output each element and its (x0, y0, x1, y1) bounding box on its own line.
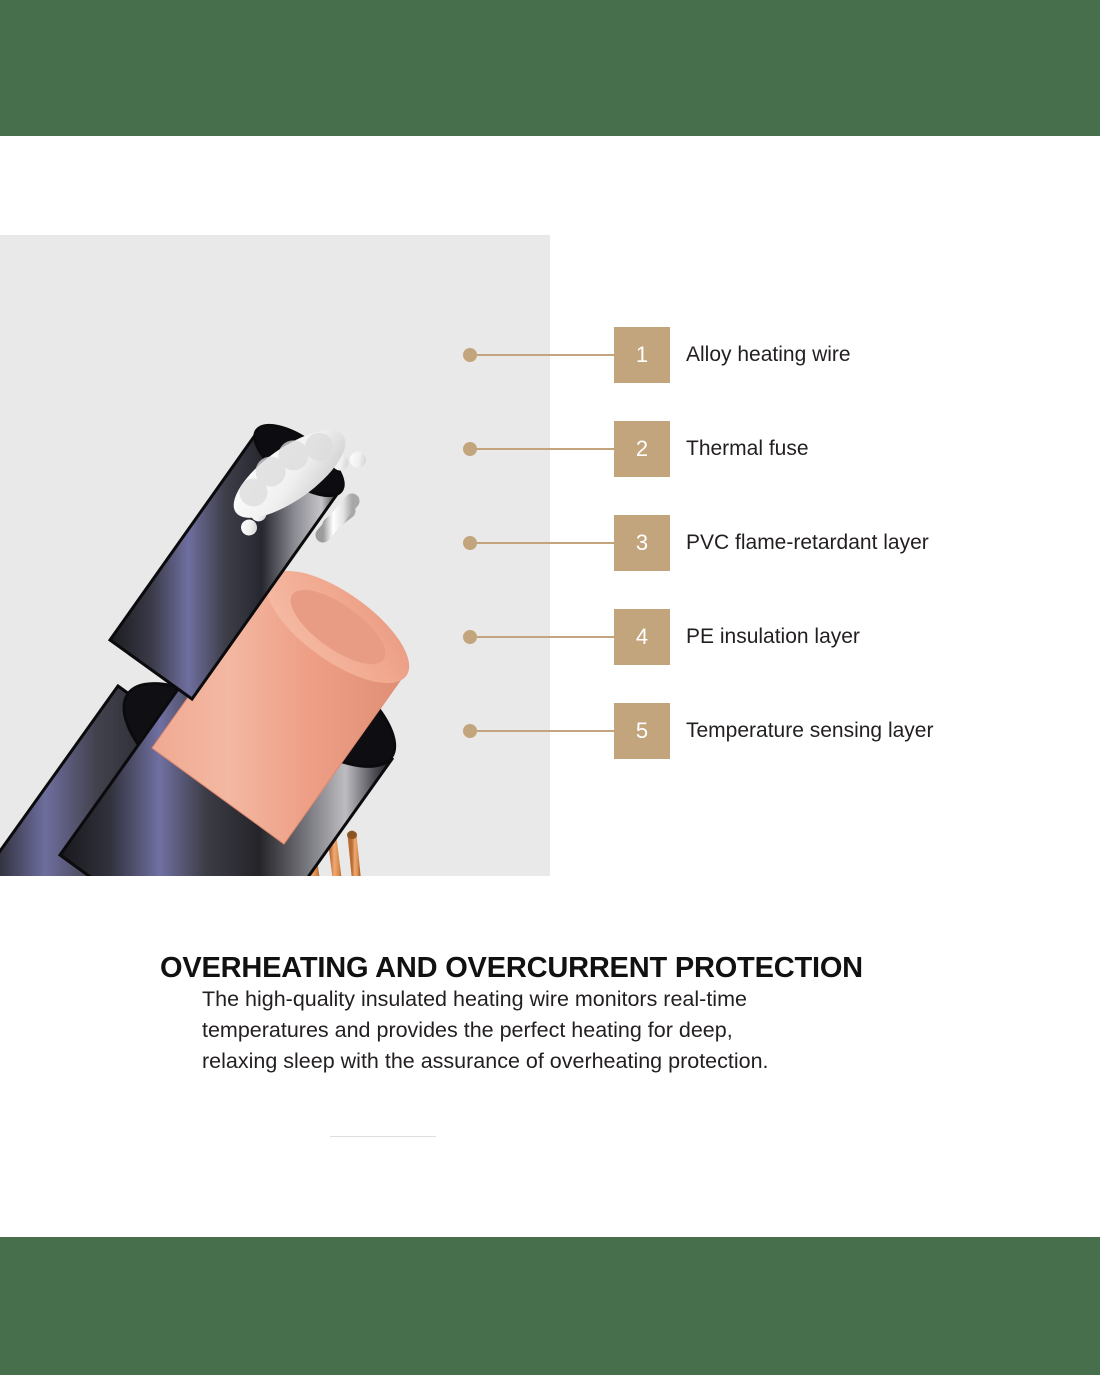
callout-item-1[interactable]: 1 Alloy heating wire (0, 327, 1100, 383)
callout-item-4[interactable]: 4 PE insulation layer (0, 609, 1100, 665)
decorative-divider (330, 1136, 436, 1137)
callout-leader-line-1 (473, 354, 616, 356)
callout-leader-line-5 (473, 730, 616, 732)
callout-leader-line-3 (473, 542, 616, 544)
top-green-band (0, 0, 1100, 136)
callout-item-2[interactable]: 2 Thermal fuse (0, 421, 1100, 477)
callout-number-badge-5: 5 (614, 703, 670, 759)
body-line-2: temperatures and provides the perfect he… (202, 1015, 942, 1046)
callout-label-3: PVC flame-retardant layer (686, 515, 929, 571)
callout-item-3[interactable]: 3 PVC flame-retardant layer (0, 515, 1100, 571)
body-line-3: relaxing sleep with the assurance of ove… (202, 1046, 942, 1077)
callout-label-1: Alloy heating wire (686, 327, 851, 383)
callout-label-5: Temperature sensing layer (686, 703, 933, 759)
callout-leader-line-2 (473, 448, 616, 450)
body-line-1: The high-quality insulated heating wire … (202, 984, 942, 1015)
callout-leader-line-4 (473, 636, 616, 638)
callout-number-badge-2: 2 (614, 421, 670, 477)
callout-label-2: Thermal fuse (686, 421, 809, 477)
callout-number-badge-3: 3 (614, 515, 670, 571)
bottom-green-band (0, 1237, 1100, 1375)
callout-number-badge-4: 4 (614, 609, 670, 665)
section-headline: OVERHEATING AND OVERCURRENT PROTECTION (160, 952, 1020, 985)
callout-item-5[interactable]: 5 Temperature sensing layer (0, 703, 1100, 759)
callout-number-badge-1: 1 (614, 327, 670, 383)
section-body-copy: The high-quality insulated heating wire … (202, 984, 942, 1077)
callout-label-4: PE insulation layer (686, 609, 860, 665)
